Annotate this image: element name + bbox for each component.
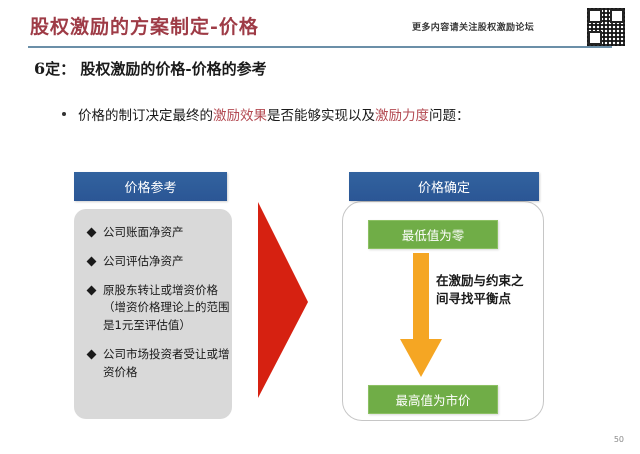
qr-code-icon (586, 7, 626, 47)
bullet-line: 价格的制订决定最终的激励效果是否能够实现以及激励力度问题： (62, 104, 470, 124)
bullet-highlight-2: 激励力度 (375, 108, 429, 124)
bullet-dot-icon (62, 112, 66, 116)
min-value-box: 最低值为零 (368, 220, 498, 249)
bullet-highlight-1: 激励效果 (213, 108, 267, 124)
slide-title: 股权激励的方案制定-价格 (30, 12, 259, 39)
list-item-label: 公司市场投资者受让或增资价格 (103, 346, 233, 382)
bullet-part-2: 是否能够实现以及 (267, 108, 375, 124)
diamond-bullet-icon (87, 228, 97, 238)
header-divider (28, 46, 612, 48)
price-reference-list: 公司账面净资产 公司评估净资产 原股东转让或增资价格（增资价格理论上的范围是1元… (88, 224, 233, 393)
diamond-bullet-icon (87, 256, 97, 266)
list-item: 公司评估净资产 (88, 253, 233, 271)
list-item-label: 公司评估净资产 (103, 253, 233, 271)
bullet-part-1: 价格的制订决定最终的 (78, 108, 213, 124)
max-value-box: 最高值为市价 (368, 385, 498, 414)
list-item: 公司市场投资者受让或增资价格 (88, 346, 233, 382)
slide-canvas: 股权激励的方案制定-价格 更多内容请关注股权激励论坛 6定： 股权激励的价格-价… (0, 0, 640, 454)
list-item-label: 原股东转让或增资价格（增资价格理论上的范围是1元至评估值） (103, 282, 233, 335)
red-triangle-arrow-icon (255, 202, 311, 398)
section-heading-text: 定： 股权激励的价格-价格的参考 (45, 60, 266, 78)
qr-finder-bottom-left (588, 31, 602, 45)
bullet-text: 价格的制订决定最终的激励效果是否能够实现以及激励力度问题： (78, 104, 470, 124)
promo-text: 更多内容请关注股权激励论坛 (412, 20, 534, 33)
page-title: 6定： 股权激励的价格-价格的参考 (34, 58, 267, 79)
section-number: 6 (34, 59, 45, 78)
list-item: 原股东转让或增资价格（增资价格理论上的范围是1元至评估值） (88, 282, 233, 335)
balance-note: 在激励与约束之间寻找平衡点 (436, 272, 528, 308)
left-header-box: 价格参考 (74, 172, 227, 201)
diamond-bullet-icon (87, 350, 97, 360)
page-number: 50 (614, 435, 624, 444)
list-item-label: 公司账面净资产 (103, 224, 233, 242)
right-header-box: 价格确定 (349, 172, 539, 201)
diamond-bullet-icon (87, 285, 97, 295)
bullet-part-3: 问题： (429, 108, 470, 124)
list-item: 公司账面净资产 (88, 224, 233, 242)
